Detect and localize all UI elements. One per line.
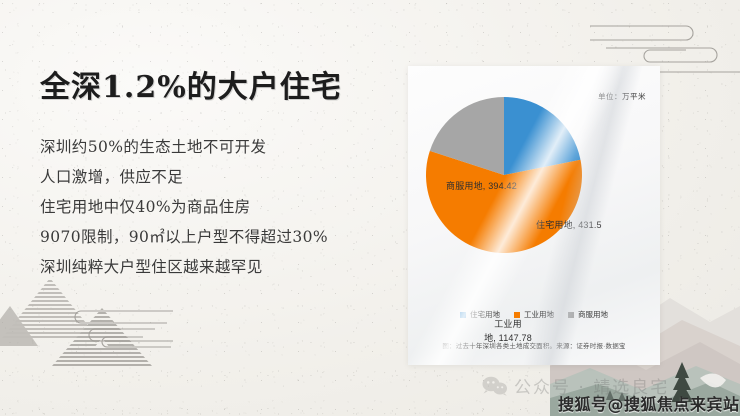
legend-item-industrial[interactable]: 工业用地 bbox=[514, 309, 554, 320]
slide-canvas: 全深1.2%的大户住宅 深圳约50%的生态土地不可开发 人口激增，供应不足 住宅… bbox=[0, 0, 740, 416]
chart-caption: 图：过去十年深圳各类土地成交面积。来源：证券时报·数据宝 bbox=[408, 340, 660, 350]
legend-label-commercial: 商服用地 bbox=[578, 309, 608, 320]
body-line-1: 深圳约50%的生态土地不可开发 bbox=[40, 132, 390, 162]
body-line-5: 深圳纯粹大户型住区越来越罕见 bbox=[40, 252, 390, 282]
pie-label-residential: 住宅用地, 431.5 bbox=[536, 218, 602, 231]
body-line-4: 9070限制，90㎡以上户型不得超过30% bbox=[40, 222, 390, 252]
legend-label-industrial: 工业用地 bbox=[524, 309, 554, 320]
body-text-block: 深圳约50%的生态土地不可开发 人口激增，供应不足 住宅用地中仅40%为商品住房… bbox=[40, 132, 390, 282]
sohu-watermark-label: 搜狐号@搜狐焦点来宾站 bbox=[558, 391, 740, 415]
legend-swatch-industrial bbox=[514, 312, 520, 318]
chart-panel: 单位：万平米 住宅用地, 431.5 商服用地, 394.42 工业用 地, 1… bbox=[408, 66, 660, 365]
pie-chart: 住宅用地, 431.5 商服用地, 394.42 工业用 地, 1147.78 bbox=[424, 95, 584, 255]
body-line-3: 住宅用地中仅40%为商品住房 bbox=[40, 192, 390, 222]
body-line-2: 人口激增，供应不足 bbox=[40, 162, 390, 192]
chart-legend: 住宅用地 工业用地 商服用地 bbox=[408, 309, 660, 320]
legend-label-residential: 住宅用地 bbox=[470, 309, 500, 320]
chart-unit-label: 单位：万平米 bbox=[598, 91, 646, 102]
pie-svg bbox=[424, 95, 584, 255]
legend-swatch-residential bbox=[460, 312, 466, 318]
page-title: 全深1.2%的大户住宅 bbox=[40, 62, 342, 106]
legend-item-residential[interactable]: 住宅用地 bbox=[460, 309, 500, 320]
legend-item-commercial[interactable]: 商服用地 bbox=[568, 309, 608, 320]
pie-label-commercial: 商服用地, 394.42 bbox=[446, 179, 517, 192]
wechat-icon bbox=[482, 376, 508, 396]
legend-swatch-commercial bbox=[568, 312, 574, 318]
